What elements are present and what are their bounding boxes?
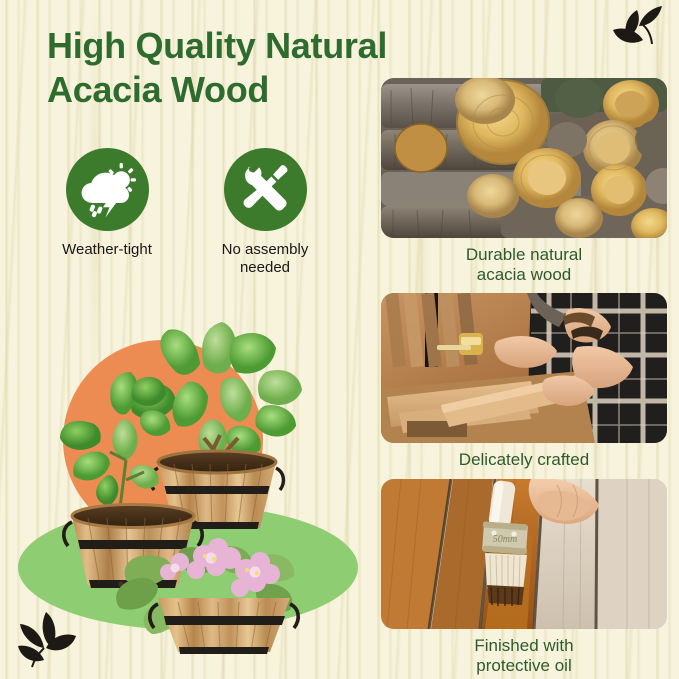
product-infographic-poster: High Quality Natural Acacia Wood bbox=[0, 0, 679, 679]
feature-weather-tight: Weather-tight bbox=[46, 148, 168, 277]
feature-label: No assembly needed bbox=[222, 241, 309, 277]
feature-label: Weather-tight bbox=[62, 241, 152, 259]
planters-illustration bbox=[8, 320, 368, 660]
feature-icon-circle bbox=[224, 148, 307, 231]
wrench-screwdriver-tools-icon bbox=[238, 163, 292, 217]
feature-icon-circle bbox=[66, 148, 149, 231]
card-caption: Durable natural acacia wood bbox=[381, 245, 667, 284]
hero-product-image bbox=[8, 320, 368, 660]
card-delicately-crafted: Delicately crafted bbox=[381, 293, 667, 470]
card-image: 50mm bbox=[381, 479, 667, 629]
card-finished-protective-oil: 50mm Finished with protective oil bbox=[381, 479, 667, 675]
card-durable-acacia-wood: Durable natural acacia wood bbox=[381, 78, 667, 284]
card-image bbox=[381, 293, 667, 443]
craftsman-measuring-wood-photo bbox=[381, 293, 667, 443]
card-caption: Finished with protective oil bbox=[381, 636, 667, 675]
stacked-acacia-logs-photo bbox=[381, 78, 667, 238]
feature-no-assembly: No assembly needed bbox=[204, 148, 326, 277]
brush-size-label: 50mm bbox=[493, 534, 517, 545]
feature-cards: Durable natural acacia wood bbox=[381, 78, 667, 679]
leaf-sprig-bottom-left bbox=[16, 610, 86, 673]
feature-badges: Weather-tight No assembly needed bbox=[46, 148, 326, 277]
brush-applying-oil-to-wood-photo: 50mm bbox=[381, 479, 667, 629]
card-image bbox=[381, 78, 667, 238]
weather-cloud-sun-lightning-icon bbox=[78, 162, 136, 218]
card-caption: Delicately crafted bbox=[381, 450, 667, 470]
leaf-sprig-top-right bbox=[609, 4, 665, 59]
